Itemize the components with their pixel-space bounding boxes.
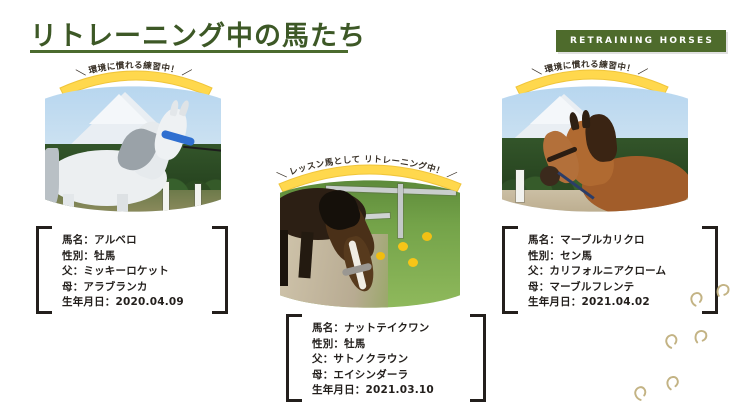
horse-info-nuttakewan: 馬名：ナットテイクワン 性別：牡馬 父：サトノクラウン 母：エイシンダーラ 生年… <box>286 314 486 402</box>
bracket-right <box>470 314 486 402</box>
field-sex: 性別：牡馬 <box>312 337 486 353</box>
bracket-left <box>502 226 518 314</box>
horse-info-lines: 馬名：マーブルカリクロ 性別：セン馬 父：カリフォルニアクローム 母：マーブルフ… <box>502 226 718 318</box>
horse-photo-nuttakewan <box>280 180 460 308</box>
bracket-left <box>36 226 52 314</box>
photo-horse-tail <box>45 148 59 208</box>
horse-info-lines: 馬名：ナットテイクワン 性別：牡馬 父：サトノクラウン 母：エイシンダーラ 生年… <box>286 314 486 406</box>
horse-info-alvelo: 馬名：アルベロ 性別：牡馬 父：ミッキーロケット 母：アラブランカ 生年月日：2… <box>36 226 228 314</box>
field-sire: 父：サトノクラウン <box>312 352 486 368</box>
horseshoe-icon <box>715 283 733 301</box>
horse-photo-alvelo <box>45 86 221 212</box>
status-badge: RETRAINING HORSES <box>556 30 726 52</box>
photo-mountain-peak <box>89 94 149 124</box>
horseshoe-icon <box>665 375 682 392</box>
horseshoe-icon <box>693 329 709 345</box>
bracket-right <box>212 226 228 314</box>
field-name: 馬名：ナットテイクワン <box>312 321 486 337</box>
photo-horse-hindleg <box>280 230 288 286</box>
field-sire: 父：カリフォルニアクローム <box>528 264 718 280</box>
page-title: リトレーニング中の馬たち <box>30 14 366 53</box>
photo-dandelion-4 <box>376 252 385 260</box>
horse-info-lines: 馬名：アルベロ 性別：牡馬 父：ミッキーロケット 母：アラブランカ 生年月日：2… <box>36 226 228 318</box>
photo-dandelion-3 <box>408 258 418 267</box>
photo-horse-leg <box>63 194 74 212</box>
photo-dandelion-2 <box>422 232 432 241</box>
slide-canvas: リトレーニング中の馬たち RETRAINING HORSES ＼ 環境に慣れる練… <box>0 0 736 414</box>
bracket-left <box>286 314 302 402</box>
field-dam: 母：エイシンダーラ <box>312 368 486 384</box>
title-underline <box>30 50 348 53</box>
photo-fence-post <box>398 184 403 238</box>
horse-photo-marblecalicro <box>502 86 688 212</box>
field-sire: 父：ミッキーロケット <box>62 264 228 280</box>
field-birthday: 生年月日：2020.04.09 <box>62 295 228 311</box>
photo-jump-rail-2 <box>195 184 201 212</box>
horseshoe-icon <box>631 383 651 403</box>
photo-jump-standard <box>516 170 524 202</box>
field-sex: 性別：セン馬 <box>528 249 718 265</box>
photo-dandelion-1 <box>398 242 408 251</box>
horse-info-marblecalicro: 馬名：マーブルカリクロ 性別：セン馬 父：カリフォルニアクローム 母：マーブルフ… <box>502 226 718 314</box>
field-name: 馬名：アルベロ <box>62 233 228 249</box>
field-birthday: 生年月日：2021.03.10 <box>312 383 486 399</box>
field-dam: 母：アラブランカ <box>62 280 228 296</box>
photo-horse-leg-2 <box>117 194 128 212</box>
field-name: 馬名：マーブルカリクロ <box>528 233 718 249</box>
ribbon-banner-3: ＼ 環境に慣れる練習中！ ／ <box>512 57 672 91</box>
field-sex: 性別：牡馬 <box>62 249 228 265</box>
horseshoe-icon <box>663 332 683 352</box>
photo-horse-ear-2 <box>582 110 591 128</box>
